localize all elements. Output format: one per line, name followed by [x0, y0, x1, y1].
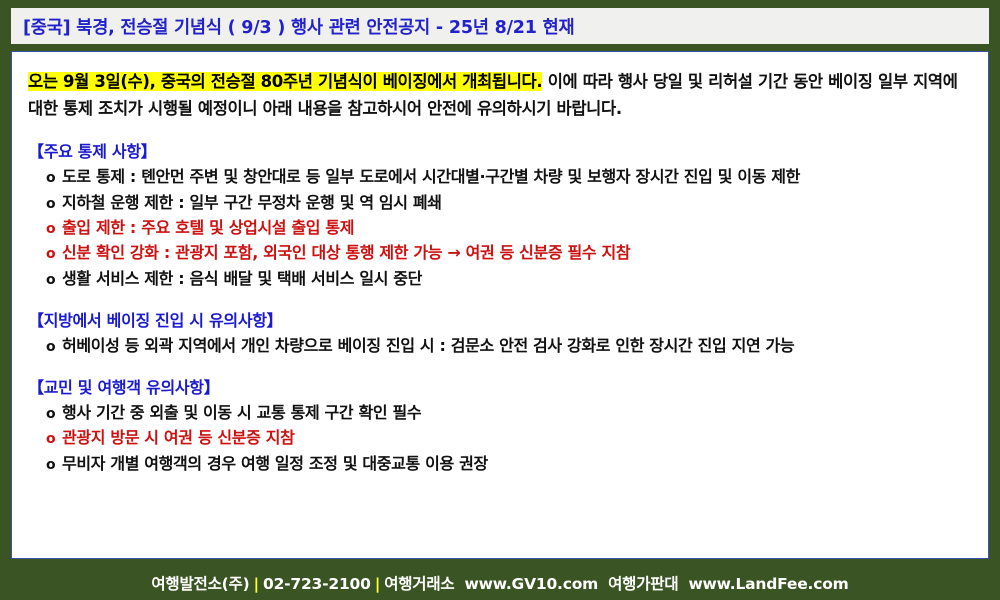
list-item: o 허베이성 등 외곽 지역에서 개인 차량으로 베이징 진입 시 : 검문소 …: [28, 333, 972, 358]
list-item: o 관광지 방문 시 여권 등 신분증 지참: [28, 425, 972, 450]
section-regional-entry: 【지방에서 베이징 진입 시 유의사항】 o 허베이성 등 외곽 지역에서 개인…: [28, 307, 972, 358]
section-heading: 【주요 통제 사항】: [28, 138, 972, 162]
footer-brand2-url[interactable]: www.LandFee.com: [688, 575, 848, 593]
list-item-text: 관광지 방문 시 여권 등 신분증 지참: [62, 425, 972, 450]
bullet-marker-icon: o: [46, 428, 62, 450]
bullet-marker-icon: o: [46, 336, 62, 358]
bullet-marker-icon: o: [46, 218, 62, 240]
footer-brand1-url[interactable]: www.GV10.com: [465, 575, 599, 593]
list-item-text: 허베이성 등 외곽 지역에서 개인 차량으로 베이징 진입 시 : 검문소 안전…: [62, 333, 972, 358]
list-item: o 생활 서비스 제한 : 음식 배달 및 택배 서비스 일시 중단: [28, 266, 972, 291]
bullet-marker-icon: o: [46, 243, 62, 265]
list-item: o 지하철 운행 제한 : 일부 구간 무정차 운행 및 역 임시 폐쇄: [28, 190, 972, 215]
footer-brand2-name: 여행가판대: [608, 575, 678, 593]
bullet-marker-icon: o: [46, 167, 62, 189]
list-item-text: 행사 기간 중 외출 및 이동 시 교통 통제 구간 확인 필수: [62, 400, 972, 425]
notice-body: 오는 9월 3일(수), 중국의 전승절 80주년 기념식이 베이징에서 개최됩…: [11, 51, 989, 559]
list-item: o 행사 기간 중 외출 및 이동 시 교통 통제 구간 확인 필수: [28, 400, 972, 425]
footer-company: 여행발전소(주): [151, 575, 249, 593]
footer-phone: 02-723-2100: [263, 575, 371, 593]
list-item: o 신분 확인 강화 : 관광지 포함, 외국인 대상 통행 제한 가능 → 여…: [28, 240, 972, 265]
section-resident-traveler: 【교민 및 여행객 유의사항】 o 행사 기간 중 외출 및 이동 시 교통 통…: [28, 374, 972, 476]
bullet-marker-icon: o: [46, 454, 62, 476]
footer-separator: |: [250, 575, 263, 593]
bullet-list: o 허베이성 등 외곽 지역에서 개인 차량으로 베이징 진입 시 : 검문소 …: [28, 333, 972, 358]
bullet-list: o 행사 기간 중 외출 및 이동 시 교통 통제 구간 확인 필수 o 관광지…: [28, 400, 972, 476]
title-bar: [중국] 북경, 전승절 기념식 ( 9/3 ) 행사 관련 안전공지 - 25…: [11, 8, 989, 44]
section-heading: 【지방에서 베이징 진입 시 유의사항】: [28, 307, 972, 331]
footer-bar: 여행발전소(주)|02-723-2100|여행거래소www.GV10.com여행…: [11, 566, 989, 600]
list-item: o 도로 통제 : 톈안먼 주변 및 창안대로 등 일부 도로에서 시간대별·구…: [28, 164, 972, 189]
list-item-text: 지하철 운행 제한 : 일부 구간 무정차 운행 및 역 임시 폐쇄: [62, 190, 972, 215]
notice-frame: [중국] 북경, 전승절 기념식 ( 9/3 ) 행사 관련 안전공지 - 25…: [0, 0, 1000, 600]
lead-highlight: 오는 9월 3일(수), 중국의 전승절 80주년 기념식이 베이징에서 개최됩…: [28, 72, 542, 91]
page-title: [중국] 북경, 전승절 기념식 ( 9/3 ) 행사 관련 안전공지 - 25…: [23, 14, 574, 39]
bullet-marker-icon: o: [46, 403, 62, 425]
list-item-text: 도로 통제 : 톈안먼 주변 및 창안대로 등 일부 도로에서 시간대별·구간별…: [62, 164, 972, 189]
bullet-marker-icon: o: [46, 193, 62, 215]
footer-brand1-name: 여행거래소: [384, 575, 454, 593]
list-item-text: 신분 확인 강화 : 관광지 포함, 외국인 대상 통행 제한 가능 → 여권 …: [62, 240, 972, 265]
bullet-list: o 도로 통제 : 톈안먼 주변 및 창안대로 등 일부 도로에서 시간대별·구…: [28, 164, 972, 290]
section-heading: 【교민 및 여행객 유의사항】: [28, 374, 972, 398]
list-item-text: 출입 제한 : 주요 호텔 및 상업시설 출입 통제: [62, 215, 972, 240]
footer-contact: 여행발전소(주)|02-723-2100|여행거래소www.GV10.com여행…: [151, 572, 848, 594]
section-main-controls: 【주요 통제 사항】 o 도로 통제 : 톈안먼 주변 및 창안대로 등 일부 …: [28, 138, 972, 290]
lead-paragraph: 오는 9월 3일(수), 중국의 전승절 80주년 기념식이 베이징에서 개최됩…: [28, 69, 972, 122]
bullet-marker-icon: o: [46, 269, 62, 291]
list-item: o 출입 제한 : 주요 호텔 및 상업시설 출입 통제: [28, 215, 972, 240]
footer-separator: |: [371, 575, 384, 593]
list-item: o 무비자 개별 여행객의 경우 여행 일정 조정 및 대중교통 이용 권장: [28, 451, 972, 476]
list-item-text: 무비자 개별 여행객의 경우 여행 일정 조정 및 대중교통 이용 권장: [62, 451, 972, 476]
list-item-text: 생활 서비스 제한 : 음식 배달 및 택배 서비스 일시 중단: [62, 266, 972, 291]
